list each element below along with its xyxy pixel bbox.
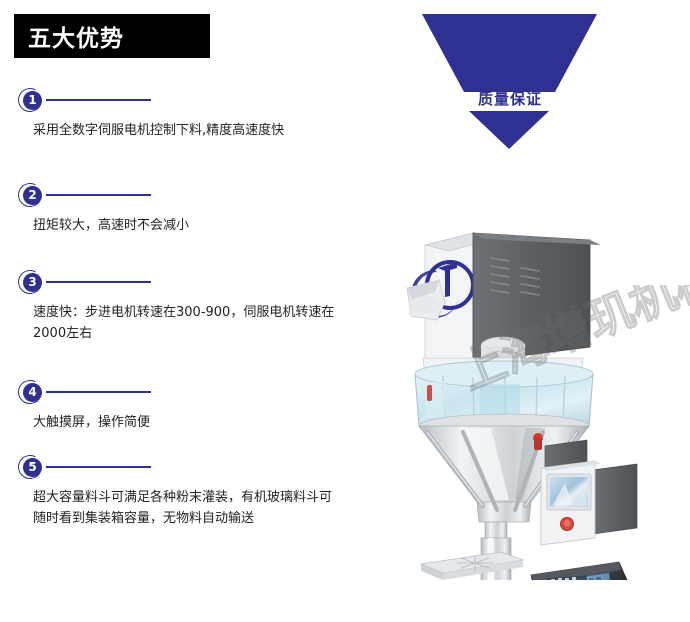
advantage-head-3: 3: [0, 270, 400, 296]
advantage-badge-2: 2: [18, 183, 48, 209]
advantage-rule-2: [46, 194, 151, 196]
advantage-badge-4: 4: [18, 380, 48, 406]
advantage-item-2: 2 扭矩较大，高速时不会减小: [0, 183, 400, 209]
triangle-upper-shape: [422, 14, 597, 92]
advantage-number-3: 3: [23, 273, 42, 292]
product-photo: [405, 150, 690, 580]
advantage-rule-5: [46, 466, 151, 468]
advantage-badge-3: 3: [18, 270, 48, 296]
advantage-text-5: 超大容量料斗可满足各种粉末灌装，有机玻璃料斗可 随时看到集装箱容量，无物料自动输…: [33, 487, 383, 529]
advantage-head-4: 4: [0, 380, 400, 406]
advantage-head-2: 2: [0, 183, 400, 209]
advantage-number-4: 4: [23, 383, 42, 402]
advantage-rule-4: [46, 391, 151, 393]
quality-badge-label: 质量保证: [410, 88, 610, 109]
advantage-item-4: 4 大触摸屏，操作简便: [0, 380, 400, 406]
advantage-rule-3: [46, 281, 151, 283]
page-root: 五大优势 1 采用全数字伺服电机控制下料,精度高速度快 2 扭矩: [0, 0, 690, 622]
advantage-item-1: 1 采用全数字伺服电机控制下料,精度高速度快: [0, 88, 400, 114]
advantage-text-3: 速度快：步进电机转速在300-900，伺服电机转速在 2000左右: [33, 302, 383, 344]
advantage-badge-5: 5: [18, 455, 48, 481]
advantage-badge-1: 1: [18, 88, 48, 114]
advantage-rule-1: [46, 99, 151, 101]
advantage-number-5: 5: [23, 458, 42, 477]
advantage-text-2: 扭矩较大，高速时不会减小: [33, 215, 383, 236]
page-title: 五大优势: [14, 19, 124, 53]
advantage-number-2: 2: [23, 186, 42, 205]
section-title-banner: 五大优势: [14, 14, 210, 58]
advantage-number-1: 1: [23, 91, 42, 110]
advantage-head-1: 1: [0, 88, 400, 114]
triangle-lower-shape: [469, 111, 549, 149]
advantage-item-3: 3 速度快：步进电机转速在300-900，伺服电机转速在 2000左右: [0, 270, 400, 296]
advantage-item-5: 5 超大容量料斗可满足各种粉末灌装，有机玻璃料斗可 随时看到集装箱容量，无物料自…: [0, 455, 400, 481]
advantage-head-5: 5: [0, 455, 400, 481]
advantage-text-1: 采用全数字伺服电机控制下料,精度高速度快: [33, 120, 383, 141]
quality-assurance-badge: 质量保证: [410, 0, 690, 160]
advantages-column: 五大优势 1 采用全数字伺服电机控制下料,精度高速度快 2 扭矩: [0, 0, 400, 622]
advantage-text-4: 大触摸屏，操作简便: [33, 412, 383, 433]
